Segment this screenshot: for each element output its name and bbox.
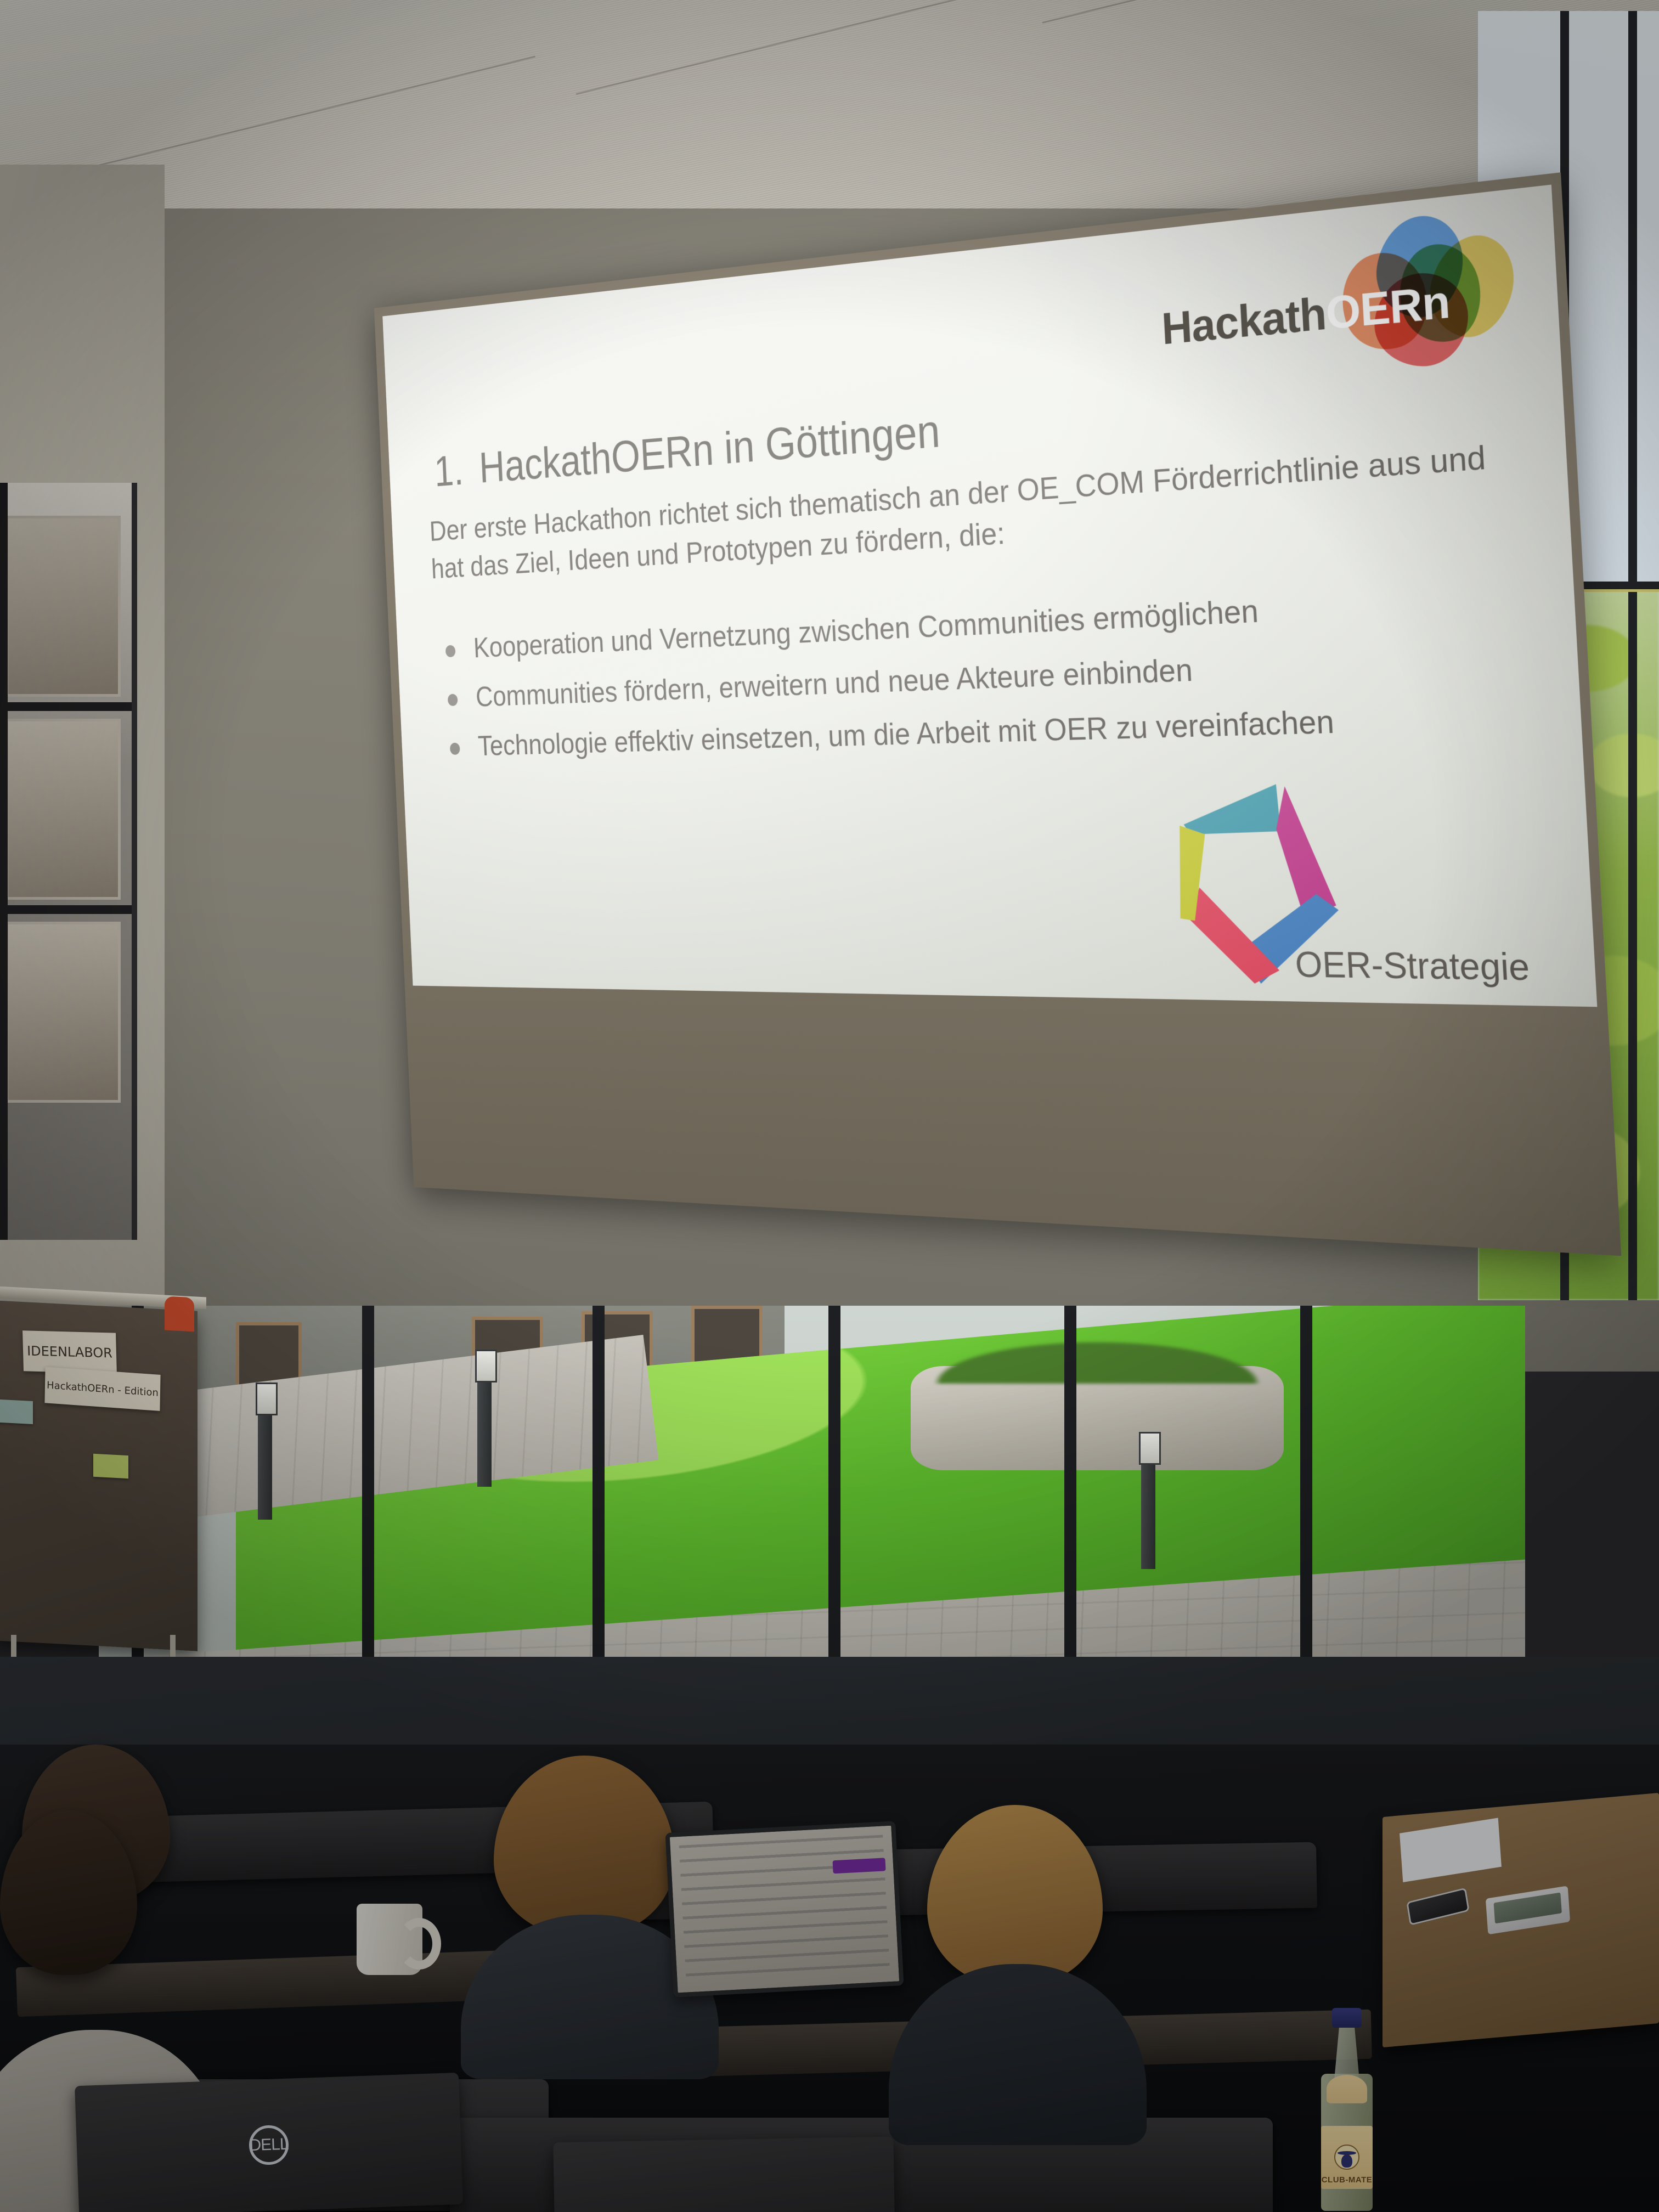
remote-control[interactable] [1406,1887,1470,1926]
laptop-screen-content [679,1835,890,1983]
slide-title-text: HackathOERn in Göttingen [478,405,941,492]
presentation-slide: HackathOERn 1.HackathOERn in Göttingen D… [382,185,1597,1007]
bollard-lamp [1141,1432,1155,1569]
club-mate-bottle: CLUB-MATE [1317,2008,1377,2211]
laptop-closed-dell[interactable]: DELL [75,2073,463,2212]
bottle-brand-label: CLUB-MATE [1321,2175,1373,2185]
pinboard-note-ideenlabor: IDEENLABOR [22,1330,117,1374]
club-mate-emblem-icon [1334,2145,1359,2170]
pinboard-sticky-green [93,1454,128,1479]
oer-strategie-logo: OER-Strategie [1160,757,1535,996]
bollard-lamp [477,1350,492,1487]
projection-screen: HackathOERn 1.HackathOERn in Göttingen D… [382,185,1608,1199]
lecture-hall-photo: HackathOERn 1.HackathOERn in Göttingen D… [0,0,1659,2212]
bottle-cap [1332,2008,1362,2028]
dell-logo-icon: DELL [249,2125,289,2165]
pinboard: IDEENLABOR HackathOERn - Edition [0,1300,198,1651]
oer-strategie-label: OER-Strategie [1294,944,1531,989]
hackathoern-logo: HackathOERn [1158,205,1527,381]
left-window [0,483,137,1240]
paper-sheet [1400,1818,1502,1882]
logo-text-light: OERn [1325,275,1451,339]
pinboard-note-edition: HackathOERn - Edition [44,1367,160,1411]
slide-bullet-list: Kooperation und Vernetzung zwischen Comm… [438,577,1538,778]
pinboard-sticky-teal [0,1400,33,1424]
laptop-closed[interactable] [553,2137,895,2212]
bollard-lamp [258,1383,272,1520]
planter [911,1366,1284,1470]
bottle-label: CLUB-MATE [1321,2126,1373,2189]
bottle-neck-label [1327,2075,1367,2103]
logo-text-dark: Hackath [1160,287,1327,354]
slide-title-number: 1. [433,447,465,496]
laptop-accent-badge [832,1858,885,1874]
lectern-control-desk [1383,1793,1659,2047]
control-panel[interactable] [1486,1886,1570,1934]
laptop-open[interactable] [665,1821,904,1997]
coffee-mug [357,1904,422,1975]
